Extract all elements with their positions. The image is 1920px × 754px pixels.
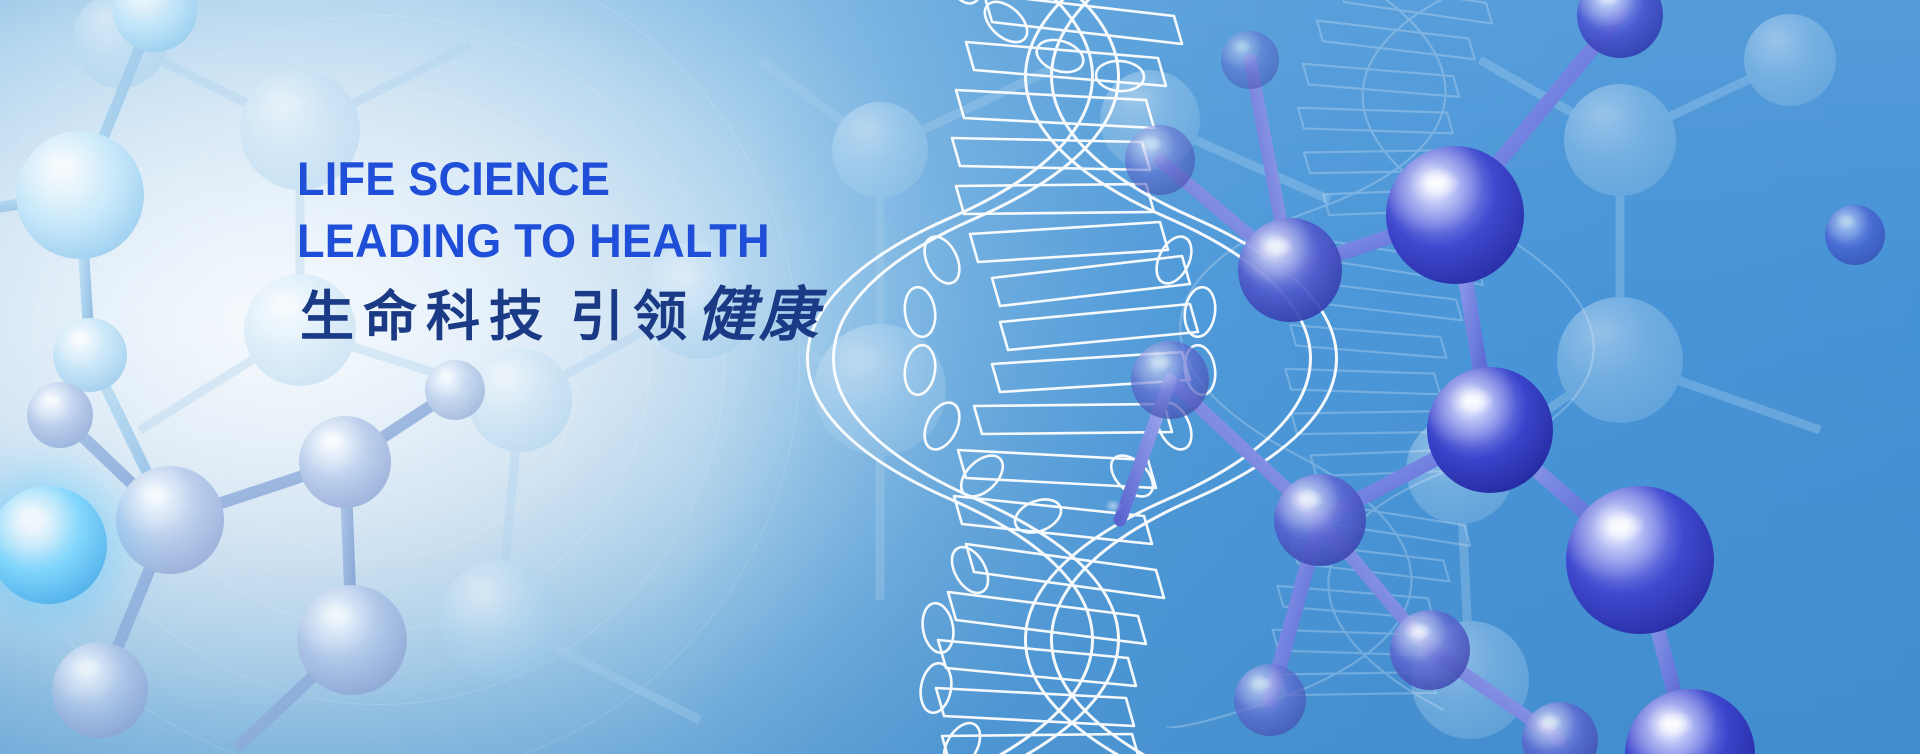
atom-dark bbox=[1390, 610, 1470, 690]
molecule-lattice-front-icon bbox=[0, 0, 1920, 754]
molecule-layer-front bbox=[0, 0, 1920, 754]
atom-dark bbox=[1274, 474, 1366, 566]
atom-dark bbox=[1125, 125, 1195, 195]
atom-dark bbox=[1566, 486, 1714, 634]
atom-dark bbox=[1825, 205, 1885, 265]
headline-chinese-part3: 健康 bbox=[696, 280, 822, 349]
atom-dark bbox=[1386, 146, 1524, 284]
atom-dark bbox=[1131, 341, 1209, 419]
atom-dark bbox=[1089, 489, 1151, 551]
headline-block: LIFE SCIENCE LEADING TO HEALTH 生命科技引领健康 bbox=[297, 148, 822, 348]
atom-dark bbox=[1427, 367, 1553, 493]
headline-chinese: 生命科技引领健康 bbox=[300, 284, 822, 348]
headline-english-line2: LEADING TO HEALTH bbox=[297, 210, 801, 272]
atom-dark bbox=[1234, 664, 1306, 736]
headline-chinese-part1: 生命科技 bbox=[300, 287, 552, 347]
atom-dark bbox=[1221, 31, 1279, 89]
atom-dark bbox=[1238, 218, 1342, 322]
headline-chinese-part2: 引领 bbox=[570, 287, 696, 347]
hero-banner: LIFE SCIENCE LEADING TO HEALTH 生命科技引领健康 bbox=[0, 0, 1920, 754]
headline-english-line1: LIFE SCIENCE bbox=[297, 148, 801, 210]
